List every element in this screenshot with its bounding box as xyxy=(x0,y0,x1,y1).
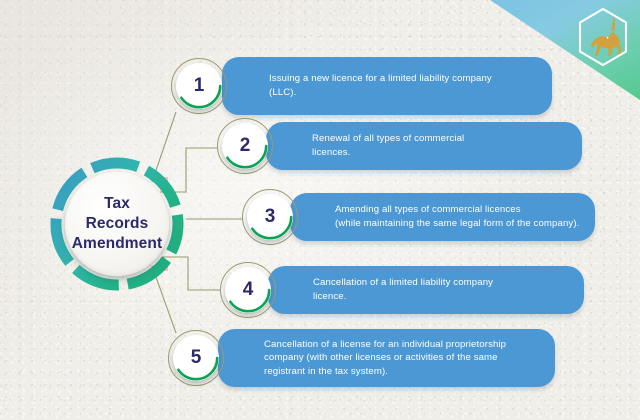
item-number-badge[interactable]: 2 xyxy=(217,118,273,174)
item-number-badge[interactable]: 1 xyxy=(171,58,227,114)
item-number-badge[interactable]: 3 xyxy=(242,189,298,245)
item-bar[interactable]: Issuing a new licence for a limited liab… xyxy=(222,57,552,115)
item-number-badge[interactable]: 4 xyxy=(220,262,276,318)
item-text: Issuing a new licence for a limited liab… xyxy=(222,72,504,99)
infographic-canvas: Tax Records Amendment Issuing a new lice… xyxy=(0,0,640,420)
item-number-badge[interactable]: 5 xyxy=(168,330,224,386)
item-number: 2 xyxy=(240,135,251,157)
item-text: Amending all types of commercial licence… xyxy=(290,203,589,230)
item-text: Cancellation of a license for an individ… xyxy=(218,338,516,379)
item-text: Cancellation of a limited liability comp… xyxy=(268,276,505,303)
item-bar[interactable]: Cancellation of a license for an individ… xyxy=(218,329,555,387)
item-bar[interactable]: Cancellation of a limited liability comp… xyxy=(268,266,584,314)
item-number: 5 xyxy=(191,347,202,369)
center-hub: Tax Records Amendment xyxy=(48,155,186,293)
item-text: Renewal of all types of commercial licen… xyxy=(266,132,476,159)
item-bar[interactable]: Renewal of all types of commercial licen… xyxy=(266,122,582,170)
item-number: 3 xyxy=(265,206,276,228)
item-number: 1 xyxy=(194,75,205,97)
item-bar[interactable]: Amending all types of commercial licence… xyxy=(290,193,595,241)
item-number: 4 xyxy=(243,279,254,301)
hub-inner-disc: Tax Records Amendment xyxy=(65,172,169,276)
center-title: Tax Records Amendment xyxy=(65,194,169,253)
